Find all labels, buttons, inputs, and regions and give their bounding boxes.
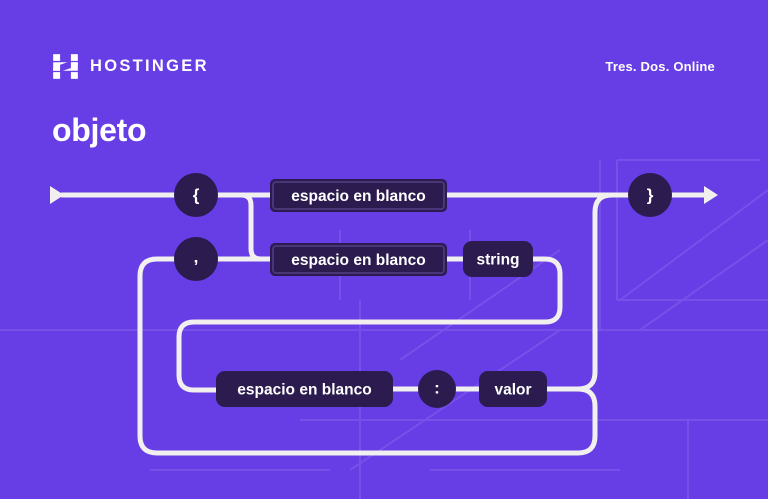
- node-whitespace-3-label: espacio en blanco: [237, 382, 371, 399]
- diagram-boxes: espacio en blanco espacio en blanco stri…: [216, 179, 547, 407]
- diagram-rails: [50, 186, 718, 453]
- node-whitespace-2-label: espacio en blanco: [291, 252, 425, 269]
- node-colon-label: :: [434, 379, 440, 398]
- node-whitespace-3[interactable]: espacio en blanco: [216, 371, 393, 407]
- node-close-brace-label: }: [647, 186, 654, 205]
- rail-string-loop-down: [179, 259, 560, 390]
- node-string[interactable]: string: [463, 241, 533, 277]
- rail-valor-loop-back: [140, 259, 595, 453]
- node-open-brace[interactable]: {: [174, 173, 218, 217]
- end-arrow-icon: [704, 186, 718, 204]
- node-close-brace[interactable]: }: [628, 173, 672, 217]
- node-whitespace-1-label: espacio en blanco: [291, 188, 425, 205]
- railroad-diagram: espacio en blanco espacio en blanco stri…: [0, 0, 768, 499]
- rail-valor-up-to-close: [578, 195, 628, 389]
- node-colon[interactable]: :: [418, 370, 456, 408]
- node-open-brace-label: {: [193, 186, 200, 205]
- rail-brace-branch-down: [237, 195, 270, 259]
- node-string-label: string: [476, 252, 519, 269]
- node-whitespace-2[interactable]: espacio en blanco: [270, 243, 447, 276]
- node-whitespace-1[interactable]: espacio en blanco: [270, 179, 447, 212]
- node-valor[interactable]: valor: [479, 371, 547, 407]
- node-comma-label: ,: [194, 248, 199, 267]
- start-arrow-icon: [50, 186, 64, 204]
- diagram-canvas: HOSTINGER Tres. Dos. Online objeto: [0, 0, 768, 499]
- node-comma[interactable]: ,: [174, 237, 218, 281]
- node-valor-label: valor: [494, 382, 531, 399]
